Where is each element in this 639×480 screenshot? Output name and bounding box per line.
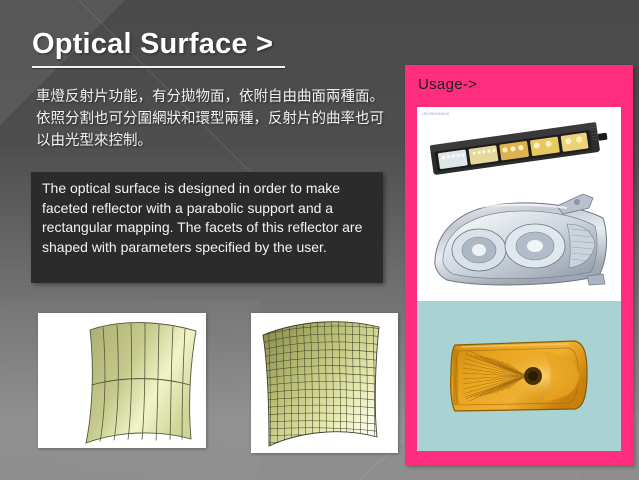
page-title: Optical Surface > — [32, 28, 273, 61]
chinese-description-text: 車燈反射片功能，有分拋物面，依附自由曲面兩種面。依照分割也可分圍網狀和環型兩種，… — [36, 86, 398, 152]
parabolic-surface-illustration — [38, 313, 206, 448]
led-light-bar-illustration: LED PACKAGING — [417, 107, 621, 184]
led-light-bar-photo: LED PACKAGING — [417, 107, 621, 184]
usage-label: Usage-> — [418, 76, 477, 93]
usage-panel: Usage-> LED PACKAGING — [405, 65, 633, 465]
headlamp-illustration — [417, 184, 621, 301]
slide-canvas: Optical Surface > 車燈反射片功能，有分拋物面，依附自由曲面兩種… — [0, 0, 639, 480]
faceted-grid-illustration — [251, 313, 398, 453]
svg-text:LED PACKAGING: LED PACKAGING — [422, 112, 450, 116]
english-description-panel: The optical surface is designed in order… — [31, 172, 383, 283]
title-underline-rule — [32, 66, 285, 68]
parabolic-support-surface-thumbnail — [38, 313, 206, 448]
amber-lamp-illustration — [417, 301, 621, 451]
chrome-headlamp-assembly-photo — [417, 184, 621, 301]
amber-turn-signal-lamp-photo — [417, 301, 621, 451]
faceted-reflector-grid-thumbnail — [251, 313, 398, 453]
english-description-text: The optical surface is designed in order… — [42, 179, 376, 257]
